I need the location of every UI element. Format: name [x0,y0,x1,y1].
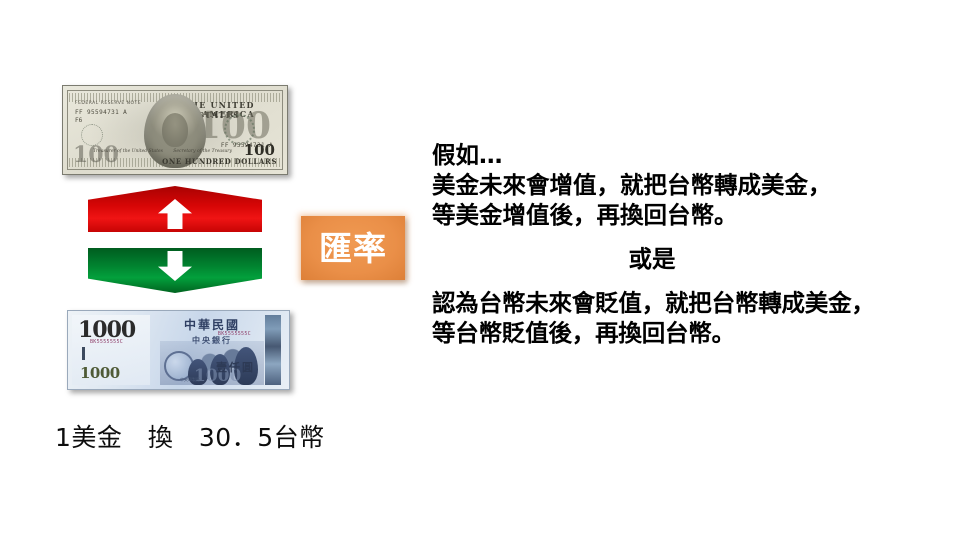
ntd-hologram-strip [265,315,281,385]
ntd-numeral-bottom: 1000 [80,366,120,381]
usd-denomination-text: ONE HUNDRED DOLLARS [162,157,277,166]
ntd-serial-number-left: BK5555555C [90,339,123,345]
scenario-two-line-2: 等台幣貶值後，再換回台幣。 [432,318,952,348]
ntd-security-bar [82,347,85,360]
ntd-numeral-top: 1000 [78,319,135,341]
usd-signature-secretary: Secretary of the Treasury [173,149,232,154]
slide-canvas: FEDERAL RESERVE NOTE THE UNITED STATES O… [0,0,960,540]
usd-corner-numeral-bottom-right: 100 [244,143,275,158]
scenario-two-line-1: 認為台幣未來會貶值，就把台幣轉成美金， [432,288,952,318]
exchange-rate-badge: 匯率 [301,216,405,280]
ntd-microtext: 中央印製廠 [180,377,200,383]
ntd-chinese-denomination: 壹仟圓 [216,359,255,375]
exchange-rate-badge-label: 匯率 [319,232,387,265]
scenario-one-line-3: 等美金增值後，再換回台幣。 [432,200,952,230]
ntd-1000-banknote-image: 1000 1000 中華民國 中央銀行 1000 中央印製廠 壹仟圓 BK555… [67,310,290,390]
arrow-up-icon [158,199,192,229]
up-arrow-red-banner [88,186,262,232]
usd-serial-number-left: FF 95594731 A [75,109,127,116]
explanation-text-block: 假如… 美金未來會增值，就把台幣轉成美金， 等美金增值後，再換回台幣。 或是 認… [432,140,952,348]
usd-corner-numeral-bottom-left: 100 [73,144,119,166]
arrow-down-icon [158,251,192,281]
down-arrow-green-banner [88,248,262,293]
scenario-two-block: 認為台幣未來會貶值，就把台幣轉成美金， 等台幣貶值後，再換回台幣。 [432,288,952,348]
ntd-serial-number-right: BK5555555C [218,331,251,337]
scenario-divider-label: 或是 [432,244,952,274]
scenario-one-line-2: 美金未來會增值，就把台幣轉成美金， [432,170,952,200]
usd-federal-reserve-label: FEDERAL RESERVE NOTE [75,101,141,106]
usd-100-banknote-image: FEDERAL RESERVE NOTE THE UNITED STATES O… [62,85,288,175]
scenario-one-block: 假如… 美金未來會增值，就把台幣轉成美金， 等美金增值後，再換回台幣。 [432,140,952,230]
scenario-one-line-1: 假如… [432,140,952,170]
exchange-rate-caption: 1美金 換 30．5台幣 [55,418,325,454]
usd-serial-prefix: F6 [75,117,82,124]
